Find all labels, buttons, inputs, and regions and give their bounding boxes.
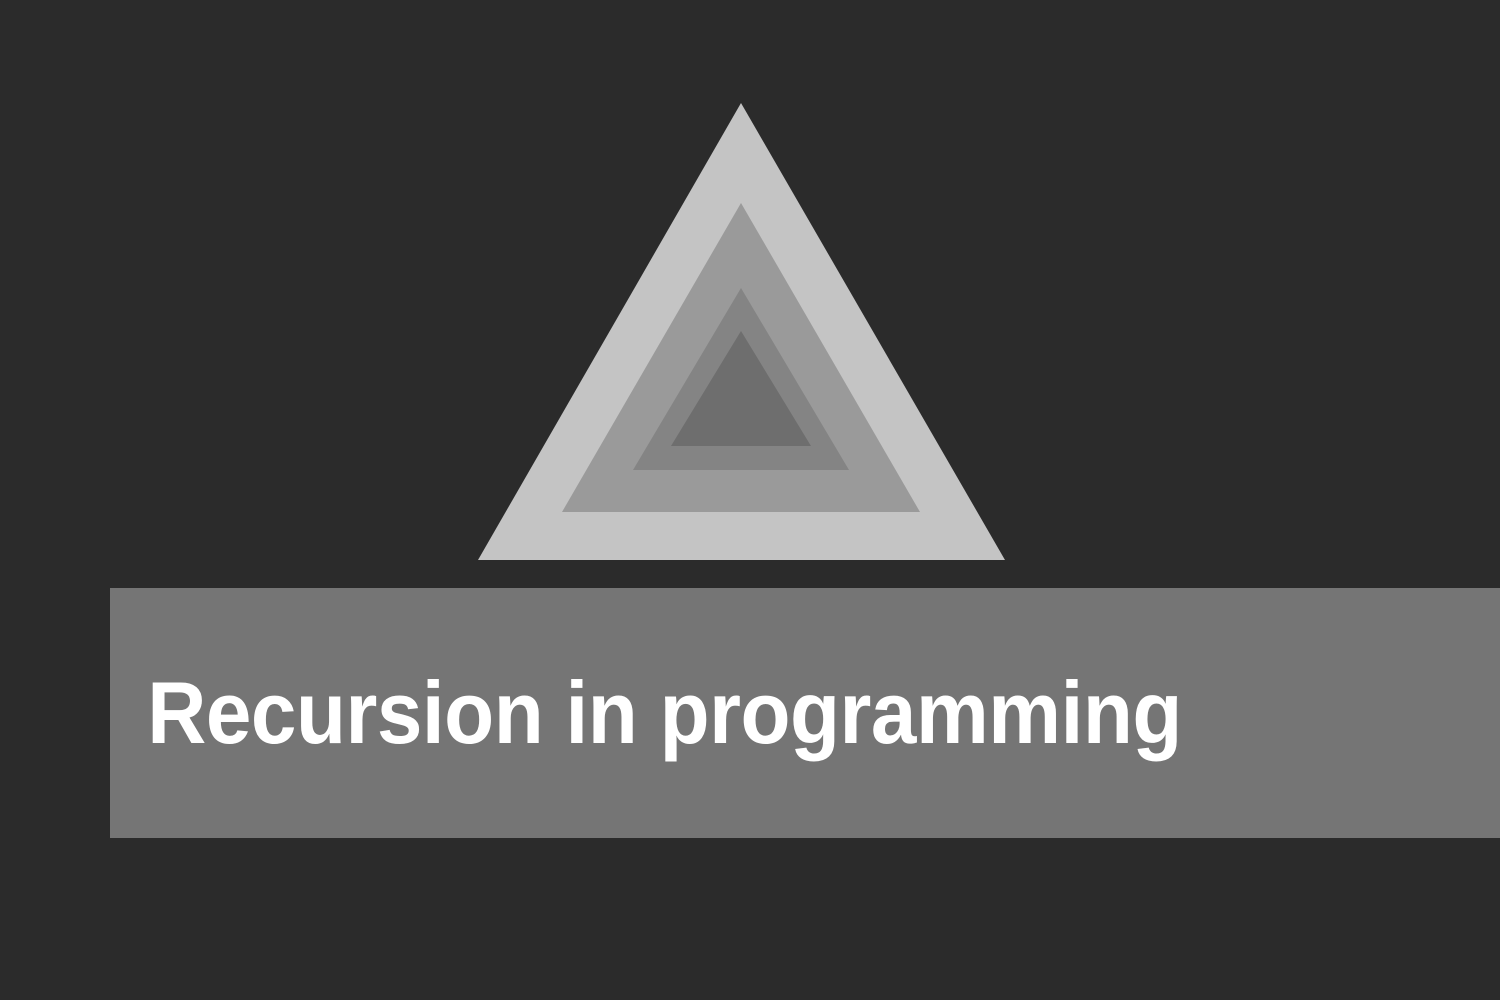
recursive-triangle-figure: [0, 0, 1500, 1000]
page-title: Recursion in programming: [110, 669, 1182, 757]
slide-canvas: Recursion in programming: [0, 0, 1500, 1000]
triangle-svg: [0, 0, 1500, 1000]
title-banner: Recursion in programming: [110, 588, 1500, 838]
